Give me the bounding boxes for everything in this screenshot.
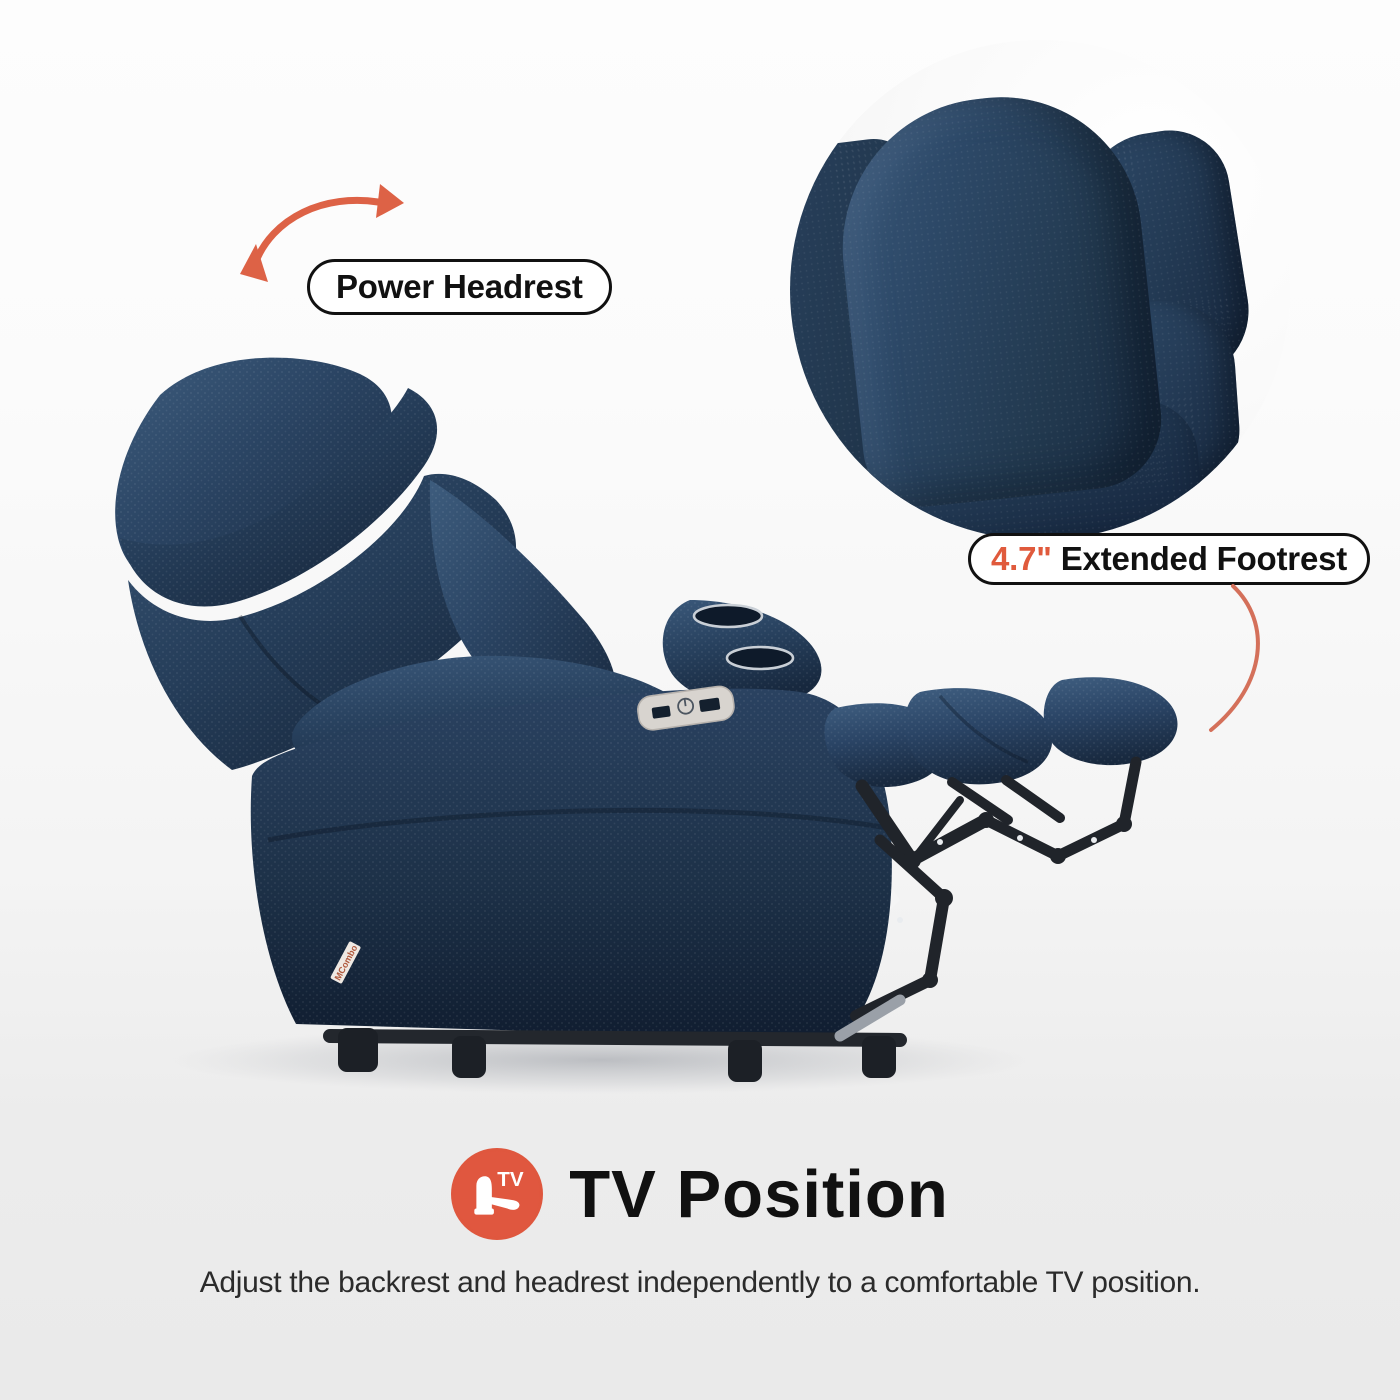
tv-position-subtitle: Adjust the backrest and headrest indepen… [200, 1266, 1201, 1300]
tv-recliner-glyph: TV [464, 1161, 530, 1227]
chair-foot-rear-left [728, 1040, 762, 1082]
cup-holder-front [727, 647, 793, 669]
tv-position-heading-row: TV TV Position [451, 1148, 949, 1240]
recliner-chair-illustration: MCombo [0, 300, 1270, 1100]
tv-recliner-icon: TV [451, 1148, 543, 1240]
tv-position-section: TV TV Position Adjust the backrest and h… [0, 1148, 1400, 1300]
chair-foot-front-right [452, 1036, 486, 1078]
cup-holder-rear [694, 605, 762, 627]
footrest-mechanism [856, 762, 1136, 1016]
tv-badge-text: TV [497, 1168, 524, 1191]
chair-foot-front-left [338, 1028, 378, 1072]
extended-footrest [825, 677, 1178, 787]
seat-base: MCombo [251, 689, 892, 1040]
tv-position-title: TV Position [569, 1161, 949, 1228]
product-feature-image: Power Headrest 4.7" Extended Footrest [0, 0, 1400, 1400]
chair-foot-rear-right [862, 1036, 896, 1078]
